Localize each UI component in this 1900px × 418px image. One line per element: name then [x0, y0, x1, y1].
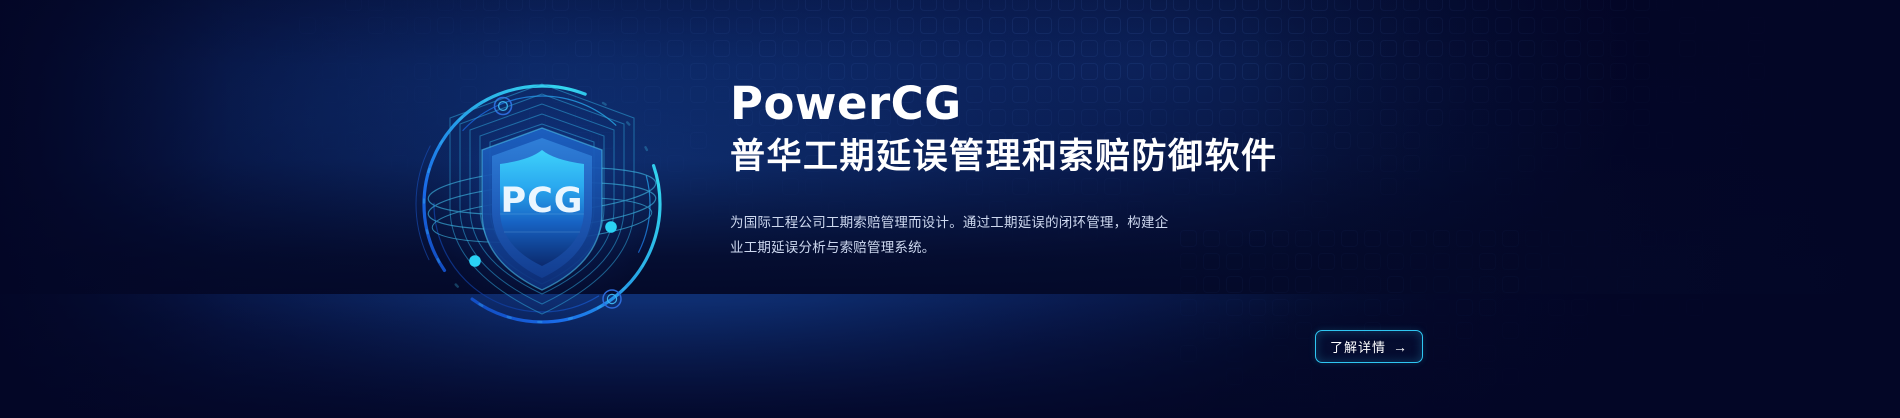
product-brand-title: PowerCG — [730, 78, 1430, 130]
learn-more-label: 了解详情 — [1330, 337, 1386, 356]
learn-more-button[interactable]: 了解详情 → — [1315, 330, 1423, 363]
orbit-dot-right — [605, 221, 617, 233]
arrow-right-icon: → — [1393, 340, 1408, 354]
orbit-dot-left — [469, 255, 481, 267]
hero-copy: PowerCG 普华工期延误管理和索赔防御软件 为国际工程公司工期索赔管理而设计… — [730, 78, 1430, 260]
pcg-shield-logo: PCG — [412, 56, 682, 348]
product-headline: 普华工期延误管理和索赔防御软件 — [730, 134, 1430, 180]
shield-logo-text: PCG — [500, 181, 583, 221]
product-description: 为国际工程公司工期索赔管理而设计。通过工期延误的闭环管理，构建企业工期延误分析与… — [730, 210, 1180, 260]
hero-banner: PCG PowerCG 普华工期延误管理和索赔防御软件 为国际工程公司工期索赔管… — [0, 0, 1900, 418]
